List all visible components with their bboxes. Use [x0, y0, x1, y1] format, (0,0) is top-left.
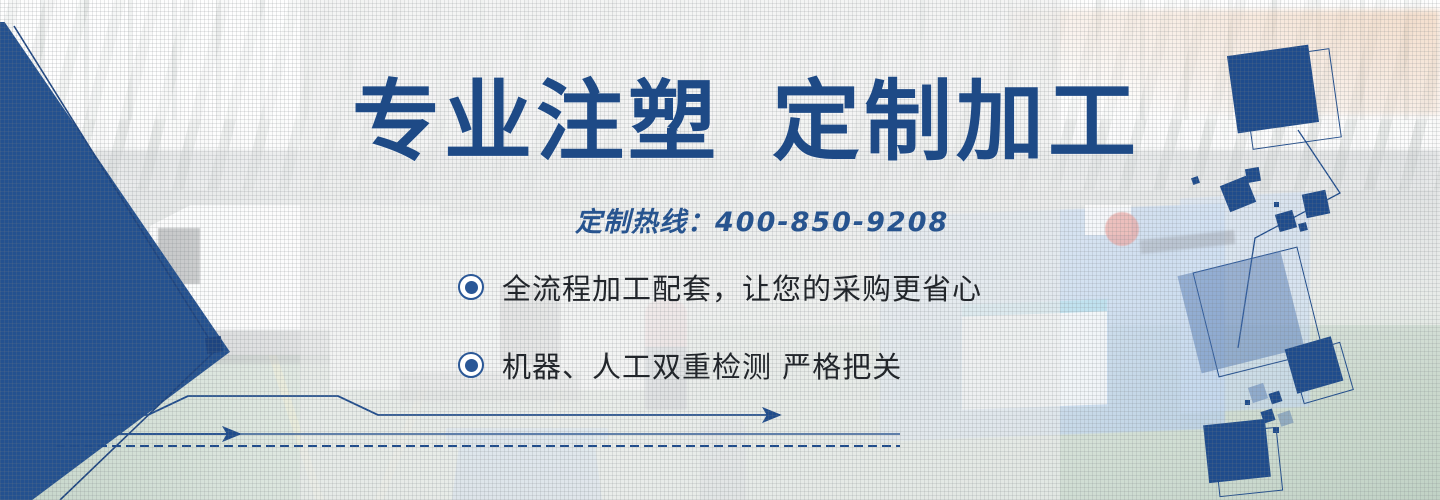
feature-bullet-list: 全流程加工配套，让您的采购更省心 机器、人工双重检测 严格把关 [458, 266, 982, 422]
bullet-text-2: 机器、人工双重检测 严格把关 [502, 344, 902, 386]
list-item: 全流程加工配套，让您的采购更省心 [458, 266, 982, 308]
list-item: 机器、人工双重检测 严格把关 [458, 344, 982, 386]
hotline-label: 定制热线： [575, 207, 715, 238]
hotline: 定制热线：400-850-9208 [575, 200, 949, 239]
hotline-number[interactable]: 400-850-9208 [715, 207, 949, 238]
radio-dot-icon [458, 274, 484, 300]
headline-part-2: 定制加工 [772, 78, 1140, 166]
bullet-text-1: 全流程加工配套，让您的采购更省心 [502, 266, 982, 308]
radio-dot-icon [458, 352, 484, 378]
promo-banner: 专业注塑 定制加工 定制热线：400-850-9208 全流程加工配套，让您的采… [0, 0, 1440, 500]
banner-content: 专业注塑 定制加工 定制热线：400-850-9208 全流程加工配套，让您的采… [0, 0, 1440, 500]
headline: 专业注塑 定制加工 [352, 78, 1140, 166]
headline-part-1: 专业注塑 [352, 78, 720, 166]
